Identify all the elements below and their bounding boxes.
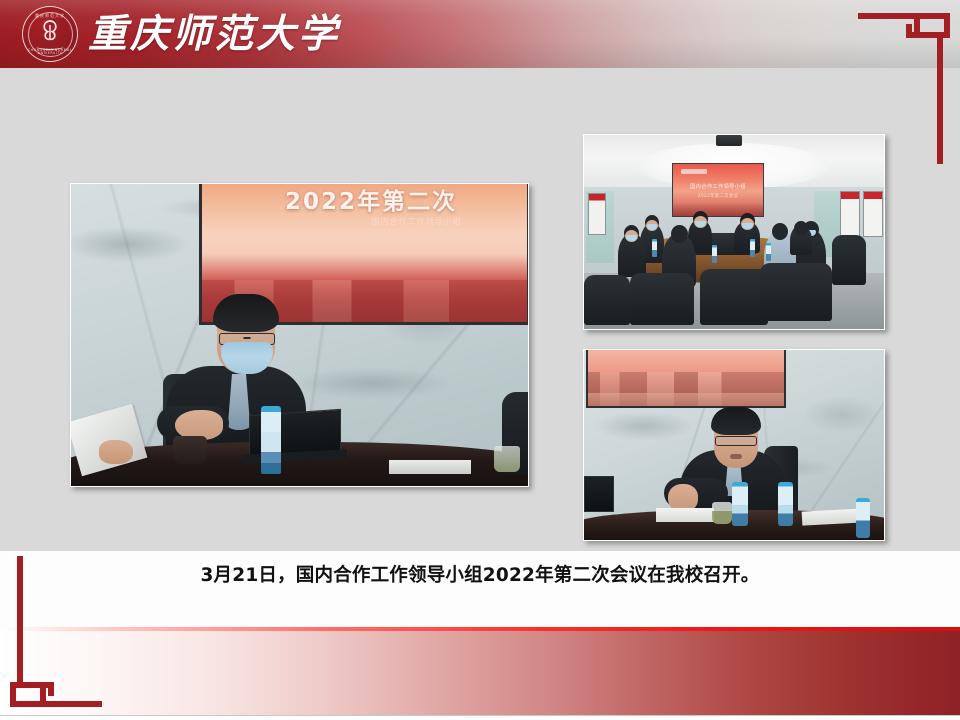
notice-board: [840, 191, 860, 237]
water-bottle: [732, 482, 748, 526]
water-bottle: [261, 406, 281, 474]
ornament-bar: [937, 32, 943, 164]
projection-screen: [586, 350, 786, 408]
person-hair: [213, 294, 279, 332]
water-bottle: [750, 239, 755, 257]
projection-screen-subtitle: 国内合作工作领导小组: [372, 216, 462, 227]
chinese-corner-ornament-bottom-left: [0, 550, 110, 720]
person-mouth: [730, 454, 742, 459]
office-chair: [832, 235, 866, 285]
university-name-title: 重庆师范大学: [88, 9, 340, 59]
face-mask: [626, 235, 637, 241]
office-chair: [584, 275, 630, 325]
notebook: [389, 460, 471, 474]
photo-content: [584, 350, 884, 540]
water-bottle: [766, 243, 771, 261]
screen-river-image: [588, 393, 784, 406]
water-bottle: [652, 239, 657, 257]
water-bottle: [712, 245, 717, 263]
ornament-bar: [48, 682, 54, 696]
meeting-photo-chairperson[interactable]: 2022年第二次 国内合作工作领导小组: [70, 183, 529, 487]
office-chair: [760, 263, 832, 321]
projection-screen: 国内合作工作领导小组 2022年第二次会议: [672, 163, 764, 217]
seal-bottom-label: CHONGQING NORMAL UNIVERSITY: [23, 49, 77, 56]
ceiling-projector: [716, 135, 742, 146]
tea-cup: [494, 446, 520, 472]
projection-screen-title: 2022年第二次: [285, 184, 457, 216]
eyeglasses: [715, 436, 757, 446]
university-seal-icon: 重庆师范大学 CHONGQING NORMAL UNIVERSITY: [22, 6, 78, 62]
attendee-head: [794, 221, 808, 236]
water-bottle: [856, 498, 870, 538]
tea-cup: [712, 502, 732, 524]
person-hair: [711, 407, 761, 435]
ornament-bar: [17, 556, 23, 688]
slide-caption: 3月21日，国内合作工作领导小组2022年第二次会议在我校召开。: [0, 561, 960, 587]
footer-gradient-band: [0, 627, 960, 715]
presentation-slide: 重庆师范大学 CHONGQING NORMAL UNIVERSITY 重庆师范大…: [0, 0, 960, 720]
face-mask: [742, 223, 753, 229]
person-hand-left: [99, 440, 133, 464]
office-chair: [700, 269, 768, 325]
cup: [173, 436, 207, 464]
office-chair: [630, 273, 694, 325]
screen-title-line2: 2022年第二次会议: [698, 193, 739, 199]
ornament-bar: [906, 24, 912, 38]
photo-content: 国内合作工作领导小组 2022年第二次会议: [584, 135, 884, 329]
notice-board: [863, 191, 883, 237]
ornament-bar: [906, 32, 950, 38]
screen-logo: [681, 169, 707, 174]
meeting-photo-speaker[interactable]: [583, 349, 885, 541]
photo-content: 2022年第二次 国内合作工作领导小组: [71, 184, 528, 486]
notice-board: [588, 193, 606, 235]
meeting-photo-conference-room[interactable]: 国内合作工作领导小组 2022年第二次会议: [583, 134, 885, 330]
seal-glyph-icon: [37, 19, 63, 45]
footer-edge: [0, 715, 960, 720]
documents: [656, 508, 714, 522]
face-mask: [695, 221, 706, 227]
water-bottle: [778, 482, 793, 526]
footer-accent-line: [0, 627, 960, 631]
screen-title-line1: 国内合作工作领导小组: [690, 183, 746, 190]
laptop: [584, 476, 614, 512]
seal-top-label: 重庆师范大学: [23, 14, 77, 18]
attendee-head: [671, 225, 688, 243]
attendee-head: [772, 223, 788, 240]
